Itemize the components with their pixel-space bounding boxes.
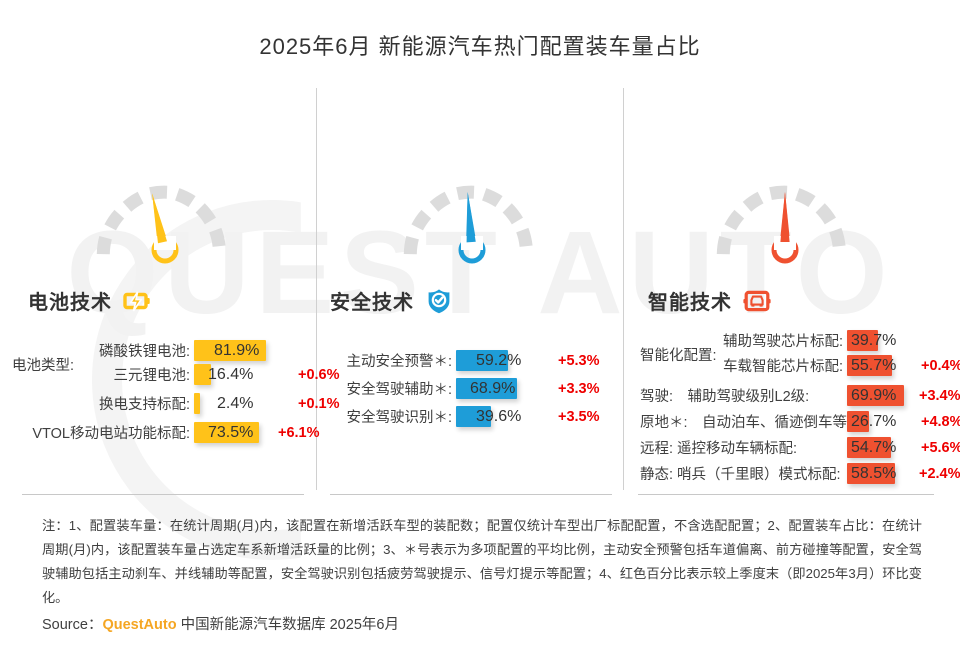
bar-cell: 73.5% <box>194 422 272 443</box>
source-brand: QuestAuto <box>102 617 176 633</box>
row-delta: +4.8% <box>921 414 960 430</box>
gauge-safety <box>392 158 552 268</box>
bar-cell: 2.4% <box>194 393 284 414</box>
bar-cell: 58.5% <box>847 463 911 484</box>
row-delta: +0.4% <box>921 358 960 374</box>
row-delta: +5.3% <box>558 353 600 369</box>
table-row: 静态: 哨兵（千里眼）模式标配: 58.5% +2.4% <box>640 463 960 484</box>
row-delta: +2.4% <box>919 466 960 482</box>
table-row: 主动安全预警＊: 59.2% +5.3% <box>330 350 600 371</box>
row-value: 26.7% <box>851 411 896 432</box>
bar-cell: 54.7% <box>847 437 911 458</box>
chart-canvas: QUEST AUTO 2025年6月 新能源汽车热门配置装车量占比 <box>0 0 960 650</box>
row-value: 39.7% <box>851 330 896 351</box>
section-header-safety: 安全技术 <box>330 286 453 315</box>
panel-underline-1 <box>22 494 304 495</box>
row-value: 54.7% <box>851 437 896 458</box>
bar-cell: 69.9% <box>847 385 911 406</box>
rows-smart: 智能化配置: 辅助驾驶芯片标配: 39.7% 车载智能芯片标配: 55.7% +… <box>640 330 960 487</box>
section-header-battery: 电池技术 <box>28 286 151 315</box>
car-frame-icon <box>743 287 771 315</box>
section-title-smart: 智能技术 <box>648 286 732 315</box>
section-title-safety: 安全技术 <box>330 286 414 315</box>
row-label: 安全驾驶辅助＊: <box>330 378 456 399</box>
bar-cell: 39.7% <box>847 330 911 351</box>
row-value: 55.7% <box>851 355 896 376</box>
source-prefix: Source： <box>42 617 102 633</box>
group-label-smart: 智能化配置: <box>640 344 717 365</box>
panel-divider-2 <box>623 88 624 490</box>
page-title: 2025年6月 新能源汽车热门配置装车量占比 <box>0 29 960 61</box>
bar-cell: 39.6% <box>456 406 544 427</box>
bar-cell: 16.4% <box>194 364 284 385</box>
table-row: 安全驾驶识别＊: 39.6% +3.5% <box>330 406 600 427</box>
row-delta: +5.6% <box>921 440 960 456</box>
group-label-battery: 电池类型: <box>12 354 74 375</box>
row-value: 81.9% <box>214 340 259 361</box>
row-label: 安全驾驶识别＊: <box>330 406 456 427</box>
row-label: 远程: 遥控移动车辆标配: <box>640 437 847 458</box>
row-delta: +3.4% <box>919 388 960 404</box>
source-line: Source：QuestAuto 中国新能源汽车数据库 2025年6月 <box>42 613 399 634</box>
row-value: 69.9% <box>851 385 896 406</box>
gauge-battery <box>85 158 245 268</box>
row-value: 2.4% <box>217 393 253 414</box>
row-label: 静态: 哨兵（千里眼）模式标配: <box>640 463 847 484</box>
row-delta: +3.5% <box>558 409 600 425</box>
row-label: 换电支持标配: <box>12 393 194 414</box>
bar-cell: 55.7% <box>847 355 911 376</box>
bar-fill <box>194 393 200 414</box>
row-delta: +3.3% <box>558 381 600 397</box>
bar-cell: 68.9% <box>456 378 544 399</box>
row-value: 59.2% <box>476 350 521 371</box>
row-delta: +6.1% <box>278 425 320 441</box>
rows-safety: 主动安全预警＊: 59.2% +5.3% 安全驾驶辅助＊: 68.9% +3.3… <box>330 350 600 430</box>
row-label: VTOL移动电站功能标配: <box>12 422 194 443</box>
table-row: 换电支持标配: 2.4% +0.1% <box>12 393 340 414</box>
row-value: 39.6% <box>476 406 521 427</box>
row-label: 原地＊: 自动泊车、循迹倒车等: <box>640 411 847 432</box>
source-rest: 中国新能源汽车数据库 2025年6月 <box>181 617 399 633</box>
row-label: 驾驶: 辅助驾驶级别L2级: <box>640 385 847 406</box>
row-value: 73.5% <box>208 422 253 443</box>
table-row: 远程: 遥控移动车辆标配: 54.7% +5.6% <box>640 437 960 458</box>
row-value: 58.5% <box>851 463 896 484</box>
table-row: VTOL移动电站功能标配: 73.5% +6.1% <box>12 422 340 443</box>
row-value: 68.9% <box>470 378 515 399</box>
gauge-smart <box>705 158 865 268</box>
table-row: 原地＊: 自动泊车、循迹倒车等: 26.7% +4.8% <box>640 411 960 432</box>
panel-underline-2 <box>330 494 612 495</box>
bar-cell: 26.7% <box>847 411 911 432</box>
rows-battery: 电池类型: 磷酸铁锂电池: 81.9% 三元锂电池: 16.4% +0.6% 换… <box>12 340 340 446</box>
footnote: 注：1、配置装车量：在统计周期(月)内，该配置在新增活跃车型的装配数；配置仅统计… <box>42 514 922 610</box>
bar-cell: 81.9% <box>194 340 284 361</box>
table-row: 安全驾驶辅助＊: 68.9% +3.3% <box>330 378 600 399</box>
battery-bolt-icon <box>123 287 151 315</box>
section-title-battery: 电池技术 <box>28 286 112 315</box>
bar-cell: 59.2% <box>456 350 544 371</box>
section-header-smart: 智能技术 <box>648 286 771 315</box>
panel-underline-3 <box>638 494 934 495</box>
shield-check-icon <box>425 287 453 315</box>
row-label: 主动安全预警＊: <box>330 350 456 371</box>
table-row: 驾驶: 辅助驾驶级别L2级: 69.9% +3.4% <box>640 385 960 406</box>
row-value: 16.4% <box>208 364 253 385</box>
